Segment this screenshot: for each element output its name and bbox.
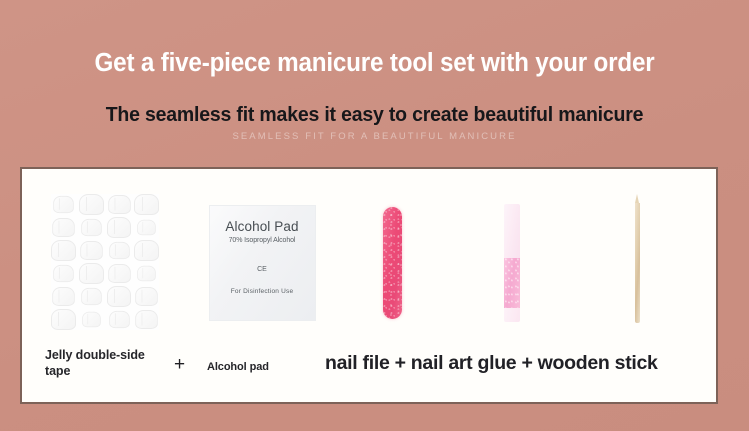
caption-tools-group: nail file + nail art glue + wooden stick [325, 352, 658, 375]
headline-secondary: The seamless fit makes it easy to create… [19, 102, 731, 127]
product-panel: Alcohol Pad 70% Isopropyl Alcohol CE For… [20, 167, 718, 404]
headline-ghost-subtitle: SEAMLESS FIT FOR A BEAUTIFUL MANICURE [0, 131, 749, 143]
wooden-cuticle-stick-icon [607, 199, 667, 327]
packet-subtitle: 70% Isopropyl Alcohol [229, 237, 296, 244]
headline-primary: Get a five-piece manicure tool set with … [19, 48, 731, 78]
plus-separator-icon: + [174, 354, 185, 376]
packet-title: Alcohol Pad [225, 219, 298, 234]
nail-glue-bottle-icon [482, 199, 542, 327]
packet-footer: For Disinfection Use [231, 288, 294, 295]
tape-sheet-grid [51, 194, 159, 330]
promo-banner: Get a five-piece manicure tool set with … [0, 0, 749, 431]
nail-file-icon [362, 199, 422, 327]
adhesive-tape-sheet-icon [44, 192, 166, 332]
caption-alcohol-pad: Alcohol pad [207, 361, 317, 373]
packet-ce-mark: CE [257, 266, 267, 273]
alcohol-pad-packet-icon: Alcohol Pad 70% Isopropyl Alcohol CE For… [207, 204, 317, 322]
caption-jelly-tape: Jelly double-side tape [45, 347, 163, 379]
